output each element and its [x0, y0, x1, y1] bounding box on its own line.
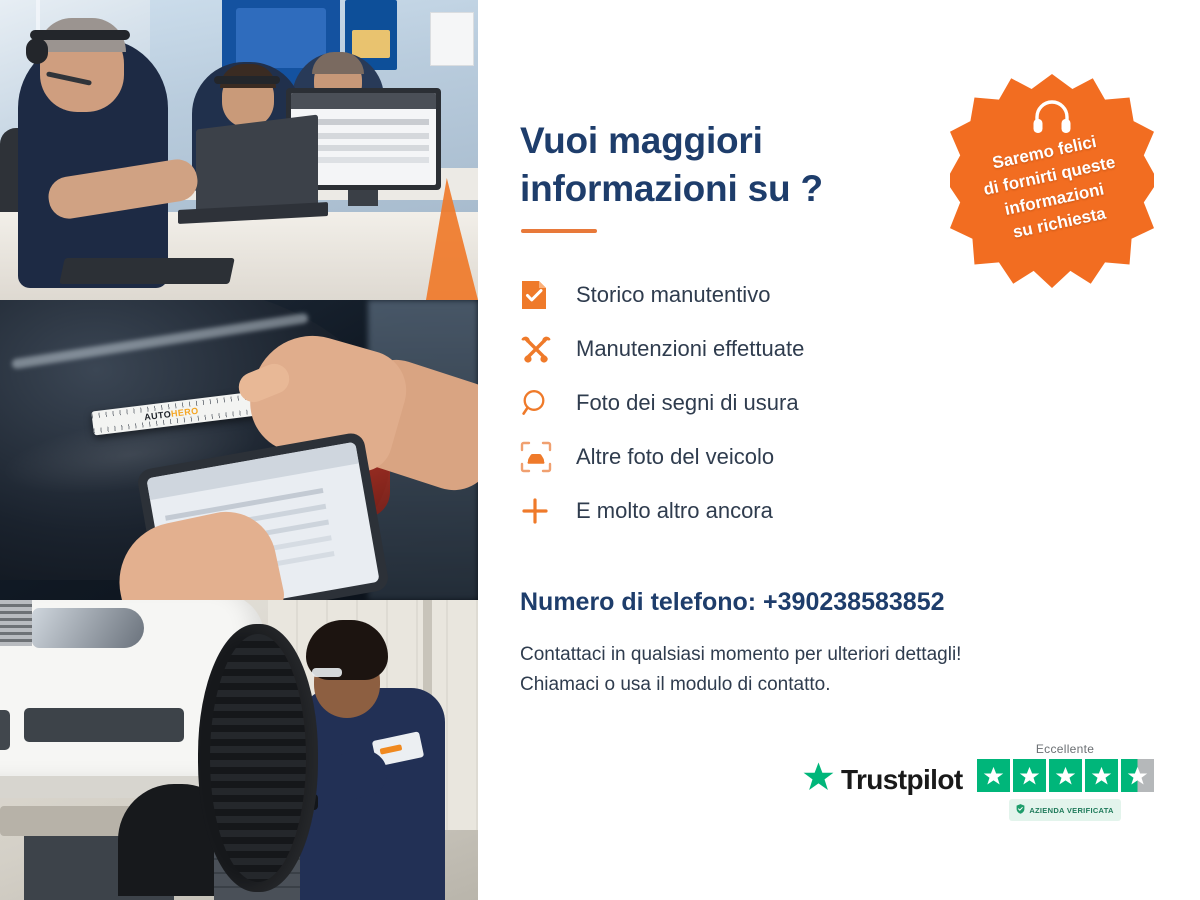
agent-one-headset-band: [30, 30, 130, 40]
feature-item-foto-usura: Foto dei segni di usura: [520, 376, 990, 430]
feature-item-molto-altro: E molto altro ancora: [520, 484, 990, 538]
trustpilot-rating: Eccellente: [977, 742, 1154, 821]
trustpilot-star-icon: [803, 762, 834, 797]
feature-item-altre-foto: Altre foto del veicolo: [520, 430, 990, 484]
agent-one-earcup: [26, 38, 48, 64]
feature-item-storico: Storico manutentivo: [520, 268, 990, 322]
star-half-5: [1121, 759, 1154, 792]
star-filled-4: [1085, 759, 1118, 792]
car-side-vent: [0, 710, 10, 750]
page-title-line-1: Vuoi maggiori: [520, 120, 763, 161]
wall-paper-sheet: [430, 12, 474, 66]
car-headlight: [32, 608, 144, 648]
title-divider: [521, 229, 597, 233]
verified-company-text: AZIENDA VERIFICATA: [1029, 806, 1113, 815]
star-filled-2: [1013, 759, 1046, 792]
phone-subtext: Contattaci in qualsiasi momento per ulte…: [520, 640, 1140, 701]
phone-subtext-line-1: Contattaci in qualsiasi momento per ulte…: [520, 640, 1140, 670]
agent-three-hair: [312, 52, 364, 74]
trustpilot-widget[interactable]: Trustpilot Eccellente: [803, 742, 1154, 821]
crossed-tools-icon: [520, 333, 576, 365]
star-filled-3: [1049, 759, 1082, 792]
trustpilot-brand: Trustpilot: [803, 762, 963, 797]
mechanic-glasses: [312, 668, 342, 677]
feature-label: Manutenzioni effettuate: [576, 336, 804, 362]
star-filled-1: [977, 759, 1010, 792]
page-title-line-2: informazioni su ?: [520, 168, 823, 209]
feature-item-manutenzioni: Manutenzioni effettuate: [520, 322, 990, 376]
call-center-agents-photo: [0, 0, 478, 300]
content-panel: Vuoi maggiori informazioni su ? Saremo f…: [478, 0, 1200, 900]
document-check-icon: [520, 279, 576, 311]
car-grille: [0, 600, 32, 646]
photo-column: AUTOHERO: [0, 0, 478, 900]
verified-company-badge: AZIENDA VERIFICATA: [1009, 799, 1120, 821]
magnifier-icon: [520, 388, 576, 418]
page-title: Vuoi maggiori informazioni su ?: [520, 117, 950, 213]
trustpilot-stars: [977, 759, 1154, 792]
shield-check-icon: [1016, 801, 1025, 819]
plus-icon: [520, 496, 576, 526]
car-scan-icon: [520, 441, 576, 473]
phone-subtext-line-2: Chiamaci o usa il modulo di contatto.: [520, 670, 1140, 700]
front-tyre: [198, 624, 318, 892]
service-badge: Saremo felici di fornirti queste informa…: [950, 74, 1154, 288]
keyboard: [59, 258, 235, 284]
trustpilot-wordmark: Trustpilot: [841, 764, 963, 796]
phone-number-title: Numero di telefono: +390238583852: [520, 588, 945, 617]
promo-page: AUTOHERO: [0, 0, 1200, 900]
feature-label: Altre foto del veicolo: [576, 444, 774, 470]
feature-label: Foto dei segni di usura: [576, 390, 799, 416]
car-inspection-ruler-photo: AUTOHERO: [0, 300, 478, 600]
car-lower-vent: [24, 708, 184, 742]
trustpilot-rating-label: Eccellente: [1036, 742, 1094, 756]
monitor-stand: [348, 190, 378, 206]
mechanic-wheel-photo: [0, 600, 478, 900]
feature-label: Storico manutentivo: [576, 282, 770, 308]
agent-two-headset: [214, 76, 280, 84]
feature-list: Storico manutentivo Manutenzi: [520, 268, 990, 538]
feature-label: E molto altro ancora: [576, 498, 773, 524]
